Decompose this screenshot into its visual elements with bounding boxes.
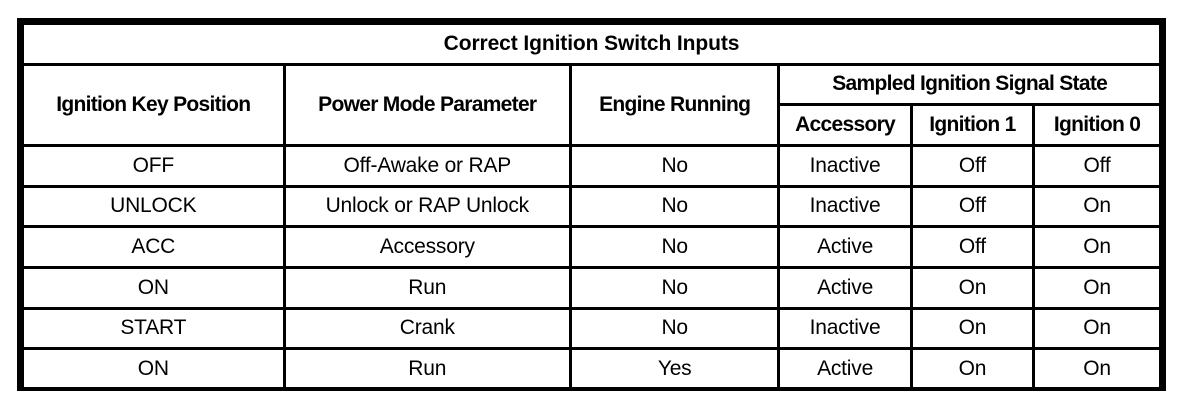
cell-ignition-0: Off (1034, 145, 1161, 186)
cell-key-position: UNLOCK (23, 186, 285, 227)
cell-engine-running: No (571, 186, 779, 227)
cell-engine-running: No (571, 227, 779, 268)
cell-ignition-1: On (911, 267, 1033, 308)
cell-ignition-1: On (911, 349, 1033, 387)
table-header-row-primary: Ignition Key Position Power Mode Paramet… (23, 64, 1161, 105)
cell-ignition-0: On (1034, 186, 1161, 227)
cell-key-position: ON (23, 267, 285, 308)
table-row: UNLOCK Unlock or RAP Unlock No Inactive … (23, 186, 1161, 227)
cell-power-mode: Crank (284, 308, 570, 349)
cell-accessory: Inactive (779, 145, 911, 186)
cell-accessory: Active (779, 267, 911, 308)
cell-engine-running: No (571, 308, 779, 349)
table-row: OFF Off-Awake or RAP No Inactive Off Off (23, 145, 1161, 186)
cell-power-mode: Unlock or RAP Unlock (284, 186, 570, 227)
cell-ignition-1: Off (911, 145, 1033, 186)
column-header-engine-running: Engine Running (571, 64, 779, 145)
cell-ignition-1: Off (911, 227, 1033, 268)
table-row: ON Run Yes Active On On (23, 349, 1161, 387)
column-header-accessory: Accessory (779, 105, 911, 146)
cell-power-mode: Run (284, 349, 570, 387)
cell-power-mode: Off-Awake or RAP (284, 145, 570, 186)
cell-accessory: Inactive (779, 308, 911, 349)
column-header-ignition-key-position: Ignition Key Position (23, 64, 285, 145)
cell-ignition-0: On (1034, 267, 1161, 308)
cell-engine-running: No (571, 145, 779, 186)
ignition-switch-table: Correct Ignition Switch Inputs Ignition … (21, 22, 1162, 387)
table-row: ON Run No Active On On (23, 267, 1161, 308)
cell-ignition-1: Off (911, 186, 1033, 227)
cell-ignition-0: On (1034, 308, 1161, 349)
table-title: Correct Ignition Switch Inputs (23, 24, 1161, 65)
cell-power-mode: Run (284, 267, 570, 308)
column-header-ignition-1: Ignition 1 (911, 105, 1033, 146)
cell-key-position: START (23, 308, 285, 349)
column-header-power-mode-parameter: Power Mode Parameter (284, 64, 570, 145)
table-title-row: Correct Ignition Switch Inputs (23, 24, 1161, 65)
cell-power-mode: Accessory (284, 227, 570, 268)
cell-accessory: Inactive (779, 186, 911, 227)
cell-engine-running: Yes (571, 349, 779, 387)
table-row: START Crank No Inactive On On (23, 308, 1161, 349)
ignition-switch-table-container: Correct Ignition Switch Inputs Ignition … (17, 18, 1166, 391)
cell-accessory: Active (779, 227, 911, 268)
cell-ignition-1: On (911, 308, 1033, 349)
cell-key-position: ACC (23, 227, 285, 268)
cell-key-position: OFF (23, 145, 285, 186)
cell-ignition-0: On (1034, 349, 1161, 387)
cell-accessory: Active (779, 349, 911, 387)
cell-key-position: ON (23, 349, 285, 387)
column-header-sampled-ignition-signal-state: Sampled Ignition Signal State (779, 64, 1161, 105)
column-header-ignition-0: Ignition 0 (1034, 105, 1161, 146)
table-row: ACC Accessory No Active Off On (23, 227, 1161, 268)
cell-engine-running: No (571, 267, 779, 308)
cell-ignition-0: On (1034, 227, 1161, 268)
